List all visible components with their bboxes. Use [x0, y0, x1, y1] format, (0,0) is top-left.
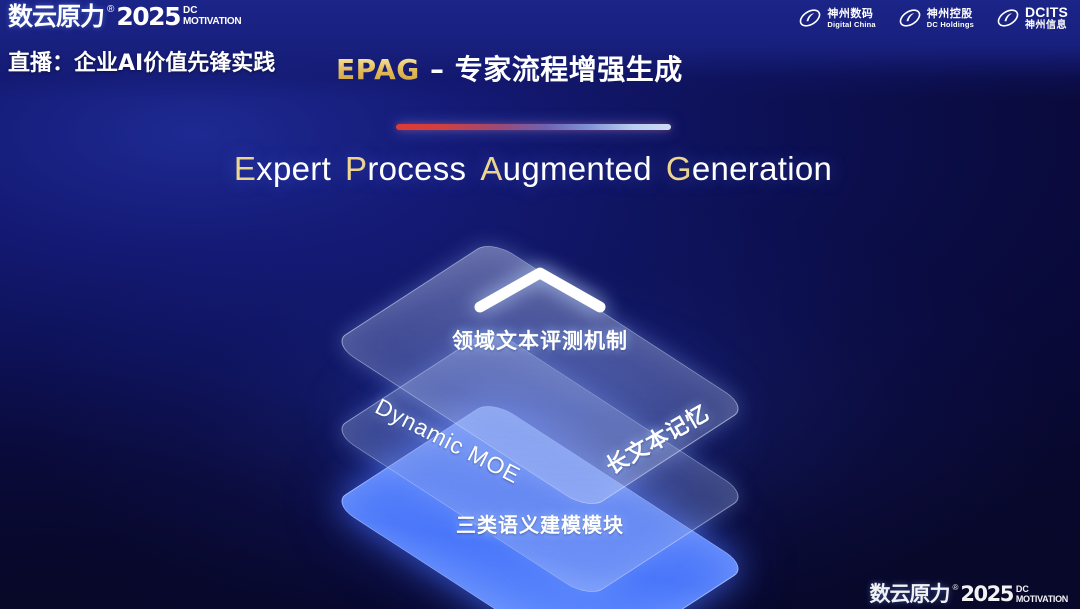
partner-logo-text: DCITS 神州信息 — [1025, 5, 1068, 31]
partner-logo-digital-china: 神州数码 Digital China — [798, 6, 875, 30]
watermark-year: 2025 — [960, 583, 1012, 605]
live-broadcast-label: 直播：企业AI价值先锋实践 — [8, 45, 275, 77]
swirl-logo-icon — [996, 6, 1020, 30]
word-remainder: xpert — [256, 150, 331, 187]
watermark-name-cn: 数云原力 — [869, 583, 949, 605]
word-remainder: eneration — [692, 150, 832, 187]
partner-logo-text: 神州数码 Digital China — [827, 8, 875, 29]
slide-stage: 数云原力 ® 2025 DC MOTIVATION 直播：企业AI价值先锋实践 … — [0, 0, 1080, 609]
swirl-logo-icon — [798, 6, 822, 30]
watermark-subtitle-line1: DC — [1016, 585, 1068, 594]
header-band: 数云原力 ® 2025 DC MOTIVATION 直播：企业AI价值先锋实践 … — [0, 0, 1080, 100]
page-title-chinese: – 专家流程增强生成 — [420, 53, 683, 86]
partner-name-cn: 神州控股 — [927, 8, 974, 20]
partner-name-cn: 神州数码 — [827, 8, 875, 20]
watermark-subtitle-line2: MOTIVATION — [1016, 594, 1068, 604]
layer-label-bottom: 三类语义建模模块 — [295, 509, 785, 538]
partner-logo-dcits: DCITS 神州信息 — [996, 5, 1068, 31]
partner-name-en: DCITS — [1025, 5, 1068, 20]
partner-logo-dc-holdings: 神州控股 DC Holdings — [898, 6, 974, 30]
isometric-layer-stack: 领域文本评测机制 Dynamic MOE 长文本记忆 三类语义建模模块 — [295, 225, 785, 570]
english-title-word-1: Expert — [234, 150, 331, 187]
partner-name-cn: 神州信息 — [1025, 20, 1068, 31]
gradient-divider — [396, 124, 671, 130]
brand-registered-mark: ® — [107, 4, 114, 16]
english-title-word-2: Process — [345, 150, 466, 187]
watermark-subtitle: DC MOTIVATION — [1016, 585, 1068, 604]
word-initial: P — [345, 150, 367, 187]
english-title-word-4: Generation — [666, 150, 832, 187]
brand-subtitle-line1: DC — [183, 6, 241, 16]
swirl-logo-icon — [898, 6, 922, 30]
partner-logo-text: 神州控股 DC Holdings — [927, 8, 974, 29]
layer-label-top: 领域文本评测机制 — [295, 325, 785, 355]
word-remainder: rocess — [367, 150, 466, 187]
brand-subtitle: DC MOTIVATION — [183, 6, 241, 27]
english-title-word-3: Augmented — [480, 150, 652, 187]
partner-name-en: DC Holdings — [927, 20, 974, 29]
page-title: EPAG – 专家流程增强生成 — [336, 48, 683, 88]
page-title-acronym: EPAG — [336, 53, 420, 86]
english-title: ExpertProcessAugmentedGeneration — [0, 150, 1080, 188]
footer-watermark: 数云原力 ® 2025 DC MOTIVATION — [869, 583, 1068, 605]
brand-subtitle-line2: MOTIVATION — [183, 16, 241, 27]
watermark-registered-mark: ® — [952, 583, 958, 592]
brand-logo: 数云原力 ® 2025 DC MOTIVATION — [8, 4, 241, 30]
word-initial: G — [666, 150, 692, 187]
partner-logo-group: 神州数码 Digital China 神州控股 DC Holdings — [798, 5, 1068, 31]
brand-name-cn: 数云原力 — [8, 4, 104, 30]
brand-year: 2025 — [116, 4, 180, 30]
word-initial: E — [234, 150, 256, 187]
partner-name-en: Digital China — [827, 20, 875, 29]
word-remainder: ugmented — [503, 150, 652, 187]
word-initial: A — [480, 150, 502, 187]
chevron-up-icon — [470, 261, 610, 317]
